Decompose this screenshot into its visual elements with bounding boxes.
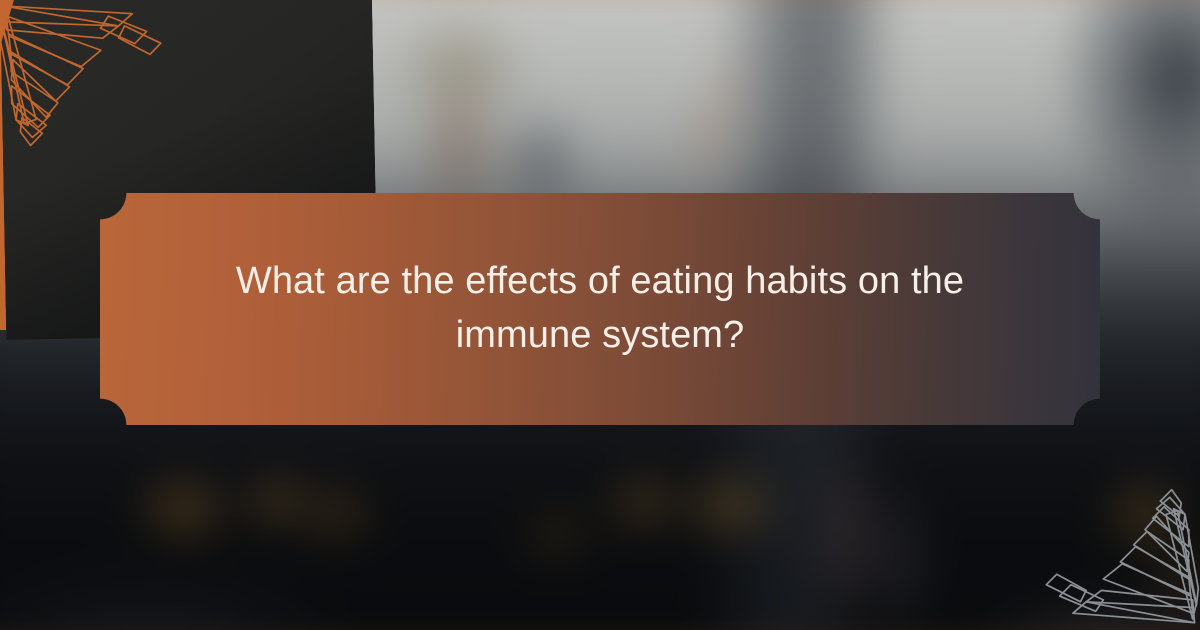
question-text: What are the effects of eating habits on…	[220, 255, 980, 363]
question-card-body: What are the effects of eating habits on…	[100, 193, 1100, 425]
poster-canvas: What are the effects of eating habits on…	[0, 0, 1200, 630]
question-card: What are the effects of eating habits on…	[100, 193, 1100, 425]
